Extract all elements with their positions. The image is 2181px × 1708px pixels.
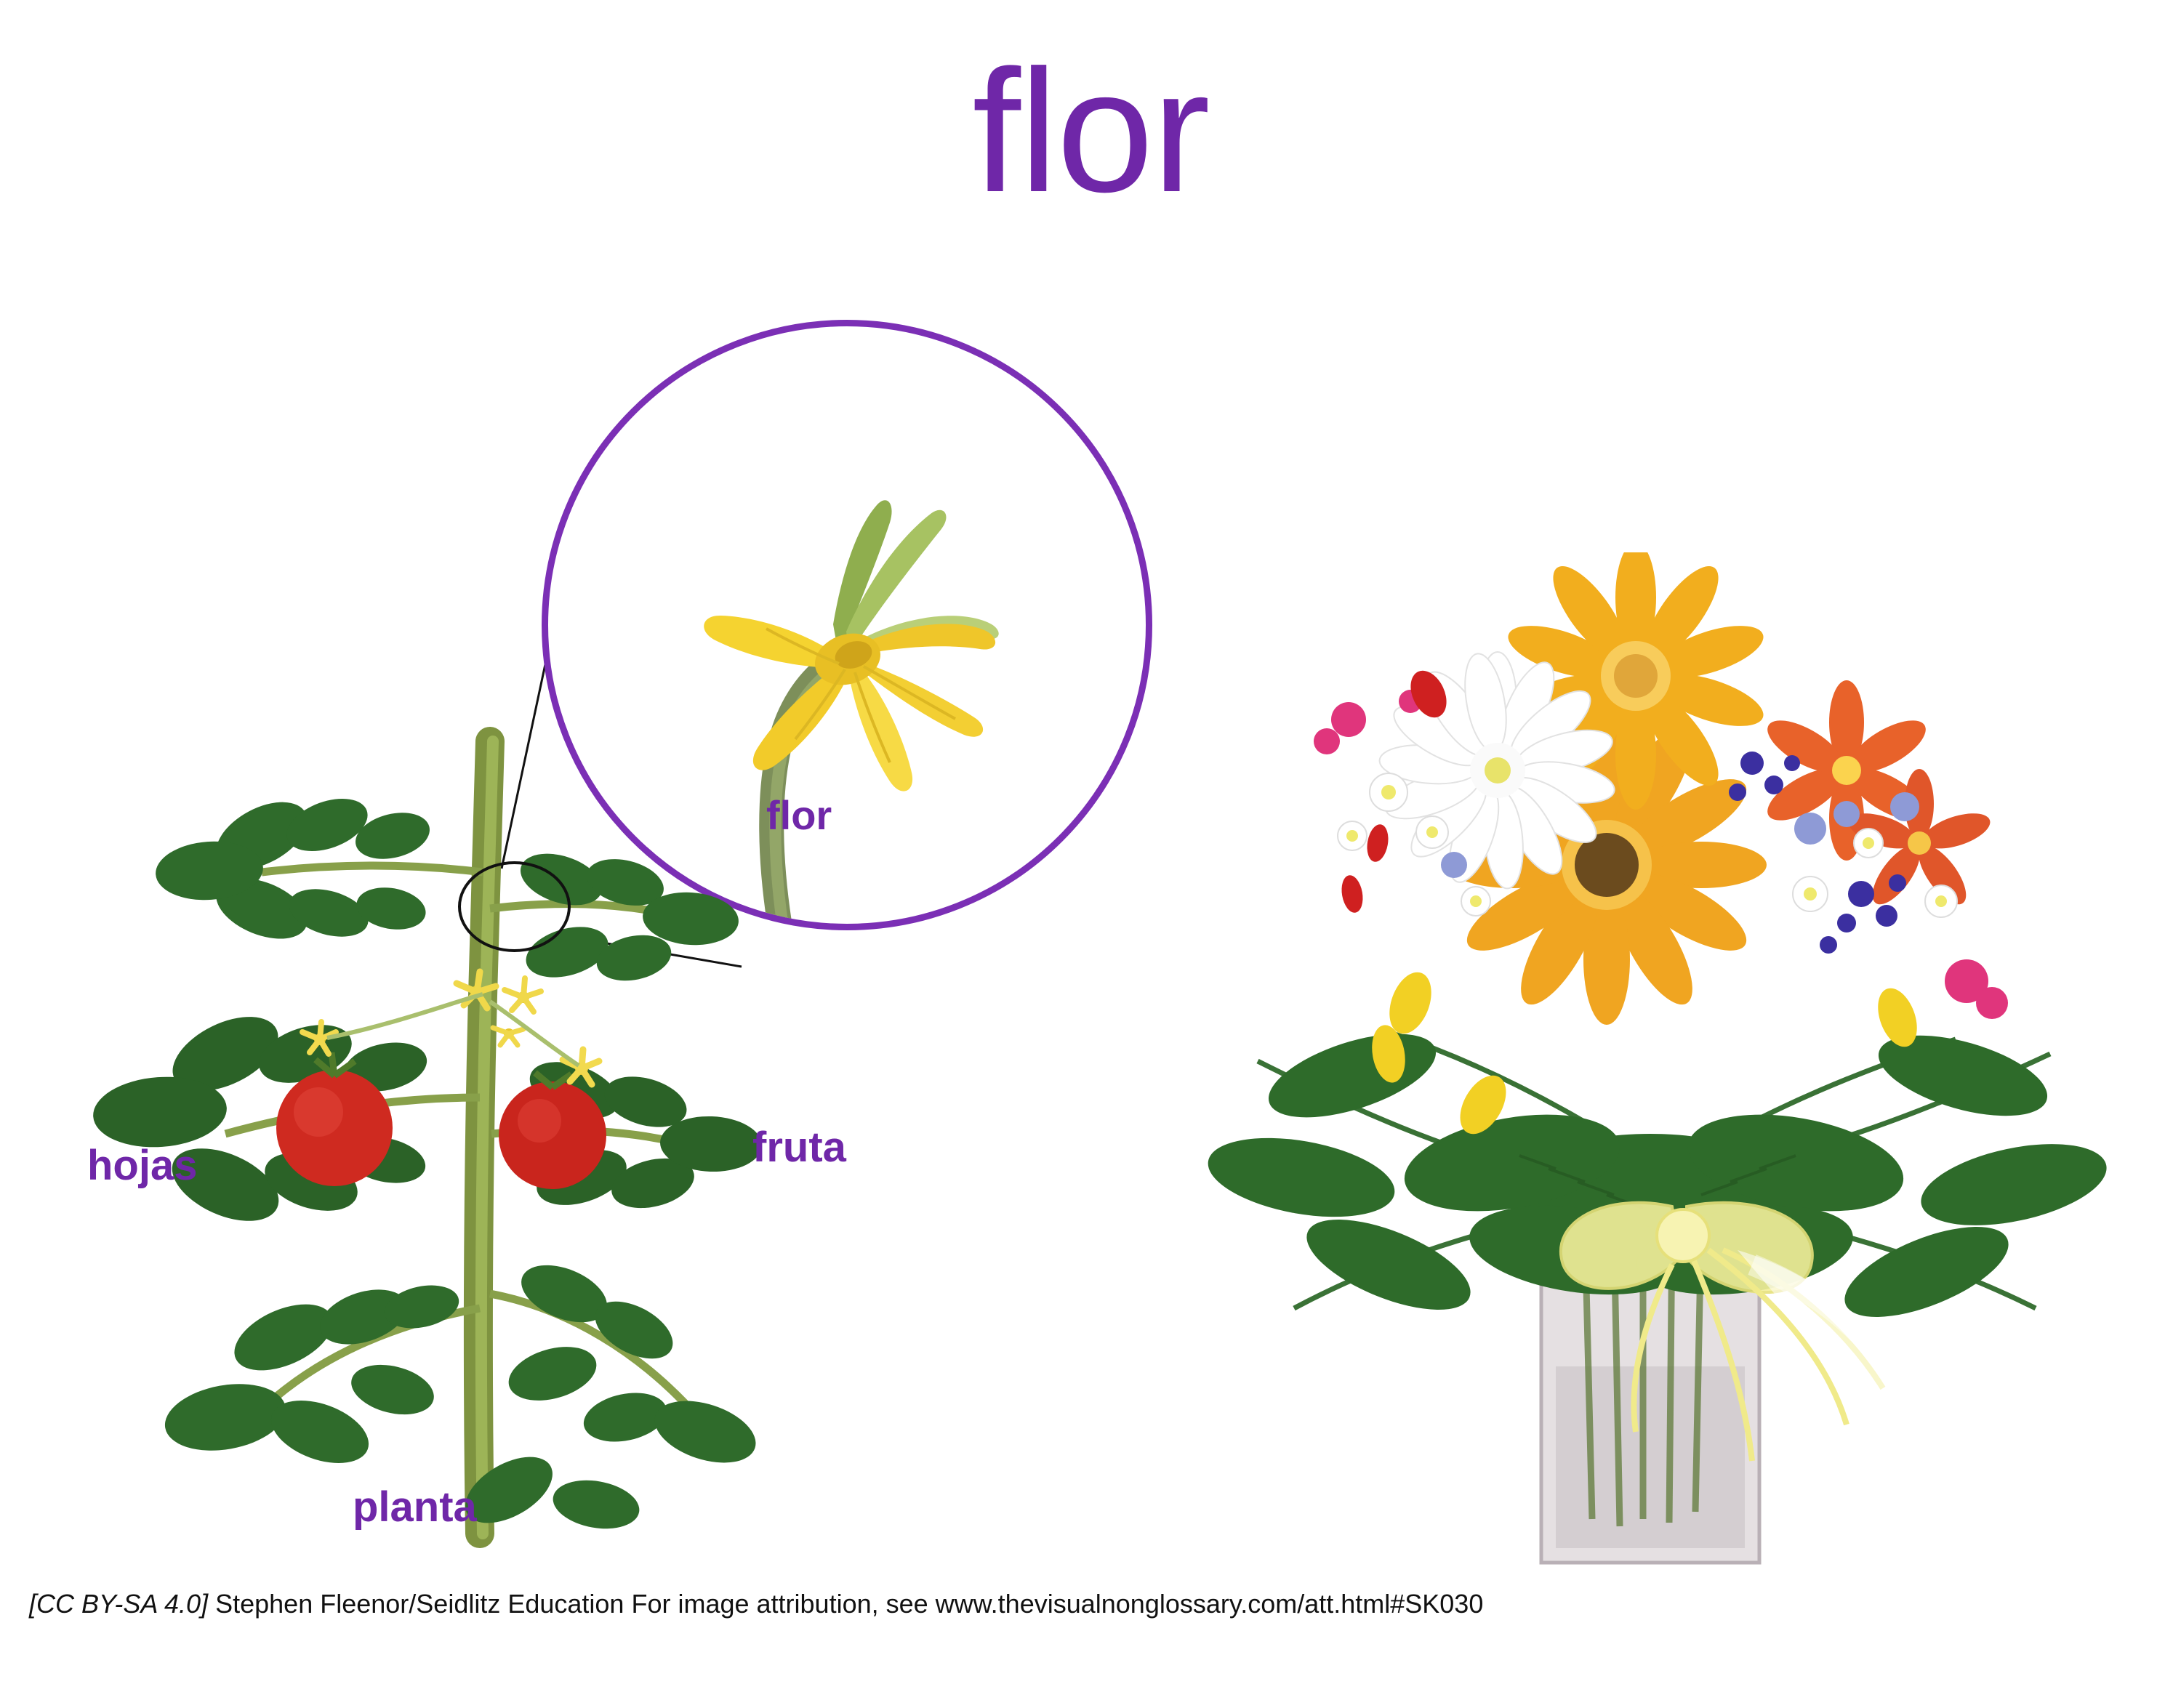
bouquet-illustration — [1170, 552, 2137, 1584]
label-hojas: hojas — [87, 1141, 198, 1190]
page-title: flor — [0, 40, 2181, 222]
attribution-footer: [CC BY-SA 4.0] Stephen Fleenor/Seidlitz … — [29, 1589, 1483, 1619]
tomato-plant-illustration — [44, 400, 952, 1708]
license-text: [CC BY-SA 4.0] — [29, 1589, 208, 1619]
label-fruta: fruta — [752, 1123, 846, 1172]
callout-label-flor: flor — [766, 791, 832, 839]
credit-text: Stephen Fleenor/Seidlitz Education For i… — [215, 1589, 1483, 1619]
flower-bouquet-photo — [1170, 552, 2137, 1584]
plant-diagram: flor — [0, 276, 1163, 1584]
label-planta: planta — [353, 1483, 477, 1531]
orange-lily-right — [1760, 680, 1995, 911]
focus-circle-outline — [458, 861, 571, 952]
